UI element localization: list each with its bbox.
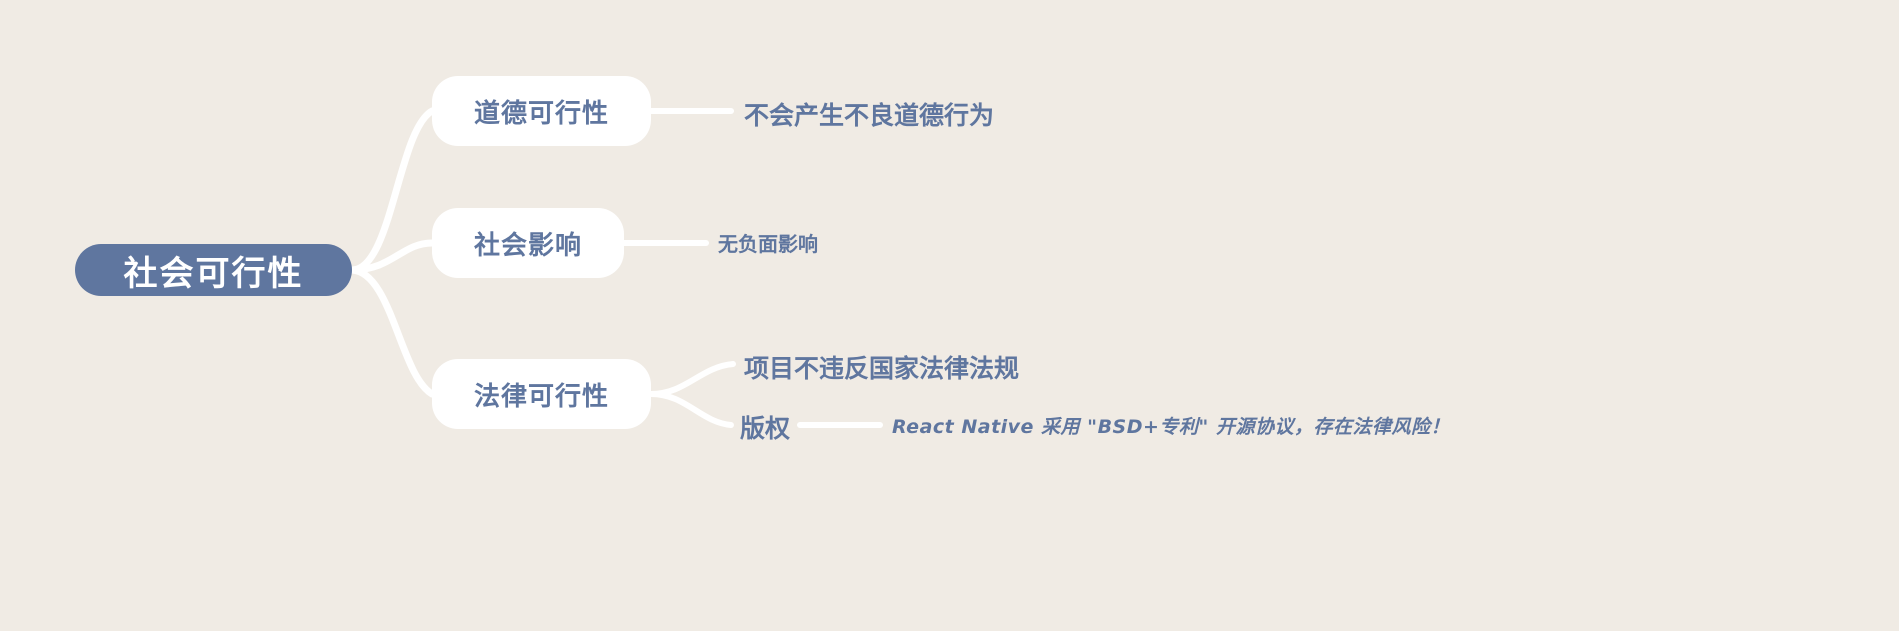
edge-root-to-legal <box>352 270 432 394</box>
note-license-risk[interactable]: React Native 采用 "BSD+专利" 开源协议，存在法律风险！ <box>892 412 1450 439</box>
mindmap-edges <box>0 0 1899 631</box>
mindmap-canvas: 社会可行性 道德可行性 不会产生不良道德行为 社会影响 无负面影响 法律可行性 … <box>0 0 1899 631</box>
leaf-no-immoral-behavior[interactable]: 不会产生不良道德行为 <box>744 96 994 132</box>
branch-node-moral-feasibility[interactable]: 道德可行性 <box>432 76 651 146</box>
leaf-complies-with-law[interactable]: 项目不违反国家法律法规 <box>744 349 1019 385</box>
leaf-no-negative-impact[interactable]: 无负面影响 <box>718 228 818 257</box>
edge-legal-to-leaf2 <box>651 394 731 425</box>
edge-root-to-moral <box>352 111 432 270</box>
leaf-copyright[interactable]: 版权 <box>740 409 790 445</box>
root-node[interactable]: 社会可行性 <box>75 244 352 296</box>
edge-legal-to-leaf1 <box>651 364 733 394</box>
branch-node-legal-feasibility[interactable]: 法律可行性 <box>432 359 651 429</box>
branch-node-social-impact[interactable]: 社会影响 <box>432 208 624 278</box>
edge-root-to-social <box>352 243 432 270</box>
